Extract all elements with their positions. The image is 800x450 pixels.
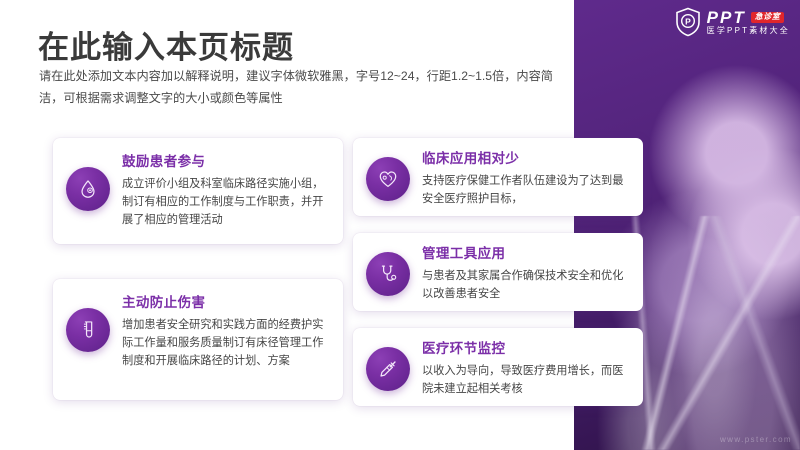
info-card-4-body: 管理工具应用 与患者及其家属合作确保技术安全和优化以改善患者安全 [422,246,629,303]
info-card-5-body: 医疗环节监控 以收入为导向，导致医疗费用增长，而医院未建立起相关考核 [422,341,629,398]
info-card-3[interactable]: 临床应用相对少 支持医疗保健工作者队伍建设为了达到最安全医疗照护目标， [353,138,643,216]
info-card-3-body: 临床应用相对少 支持医疗保健工作者队伍建设为了达到最安全医疗照护目标， [422,151,629,208]
info-card-3-desc: 支持医疗保健工作者队伍建设为了达到最安全医疗照护目标， [422,172,629,208]
info-card-1-body: 鼓励患者参与 成立评价小组及科室临床路径实施小组，制订有相应的工作制度与工作职责… [122,151,329,230]
svg-text:P: P [685,17,691,27]
logo-badge: 急诊室 [751,12,785,24]
info-card-2[interactable]: 主动防止伤害 增加患者安全研究和实践方面的经费护实际工作量和服务质量制订有床径管… [53,279,343,400]
blood-drop-icon [66,167,110,211]
info-card-1-desc: 成立评价小组及科室临床路径实施小组，制订有相应的工作制度与工作职责，并开展了相应… [122,175,329,229]
info-card-4-title: 管理工具应用 [422,246,629,262]
page-subtitle: 请在此处添加文本内容加以解释说明，建议字体微软雅黑，字号12~24，行距1.2~… [39,66,569,109]
info-card-2-desc: 增加患者安全研究和实践方面的经费护实际工作量和服务质量制订有床径管理工作制度和开… [122,316,329,370]
info-card-2-body: 主动防止伤害 增加患者安全研究和实践方面的经费护实际工作量和服务质量制订有床径管… [122,292,329,371]
info-card-3-title: 临床应用相对少 [422,151,629,167]
logo-top-row: PPT 急诊室 [707,9,790,26]
test-tube-icon [66,308,110,352]
syringe-icon [366,347,410,391]
info-card-4-desc: 与患者及其家属合作确保技术安全和优化以改善患者安全 [422,267,629,303]
logo-text-block: PPT 急诊室 医学PPT素材大全 [707,9,790,35]
logo-brand-text: PPT [707,9,746,26]
info-card-4[interactable]: 管理工具应用 与患者及其家属合作确保技术安全和优化以改善患者安全 [353,233,643,311]
info-card-1[interactable]: 鼓励患者参与 成立评价小组及科室临床路径实施小组，制订有相应的工作制度与工作职责… [53,138,343,244]
info-card-5-desc: 以收入为导向，导致医疗费用增长，而医院未建立起相关考核 [422,362,629,398]
info-card-5[interactable]: 医疗环节监控 以收入为导向，导致医疗费用增长，而医院未建立起相关考核 [353,328,643,406]
shield-p-icon: P [675,7,701,37]
brand-logo[interactable]: P PPT 急诊室 医学PPT素材大全 [675,7,790,37]
stethoscope-icon [366,252,410,296]
heart-pulse-icon [366,157,410,201]
page-title: 在此输入本页标题 [38,22,294,67]
info-card-2-title: 主动防止伤害 [122,295,329,311]
info-card-1-title: 鼓励患者参与 [122,154,329,170]
info-card-5-title: 医疗环节监控 [422,341,629,357]
slide-canvas: www.pster.com P PPT 急诊室 医学PPT素材大全 在此输入本页… [0,0,800,450]
photo-watermark: www.pster.com [720,435,792,444]
logo-tagline: 医学PPT素材大全 [707,27,790,35]
